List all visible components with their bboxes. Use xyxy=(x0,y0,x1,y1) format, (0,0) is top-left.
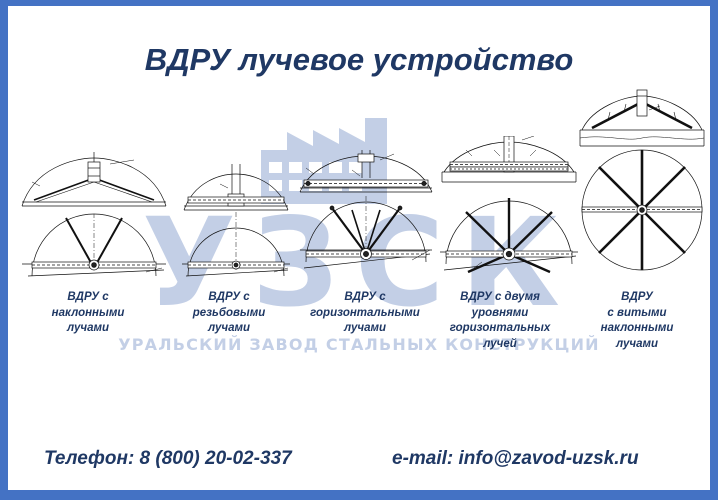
caption-line: ВДРУ xyxy=(574,290,700,306)
footer-phone[interactable]: Телефон: 8 (800) 20-02-337 xyxy=(44,446,292,472)
caption-figure-2: ВДРУ с резьбовыми лучами xyxy=(164,290,294,337)
figure-3 xyxy=(294,150,438,284)
caption-figure-1: ВДРУ с наклонными лучами xyxy=(18,290,158,337)
figure-1 xyxy=(14,152,174,284)
technical-drawing-threaded-rays xyxy=(176,164,296,284)
technical-drawing-inclined-rays xyxy=(14,152,174,284)
caption-line: лучами xyxy=(164,321,294,337)
page-title: ВДРУ лучевое устройство xyxy=(8,42,710,78)
caption-figure-3: ВДРУ с горизонтальными лучами xyxy=(294,290,436,337)
footer-email[interactable]: e-mail: info@zavod-uzsk.ru xyxy=(392,446,639,472)
caption-line: наклонными xyxy=(18,306,158,322)
footer: Телефон: 8 (800) 20-02-337 e-mail: info@… xyxy=(8,446,710,480)
technical-drawing-horizontal-rays xyxy=(294,150,438,284)
caption-line: горизонтальными xyxy=(294,306,436,322)
caption-line: лучами xyxy=(294,321,436,337)
figure-4 xyxy=(438,136,580,284)
figures-row xyxy=(8,88,710,296)
caption-figure-5: ВДРУ с витыми наклонными лучами xyxy=(574,290,700,352)
caption-line: ВДРУ с xyxy=(294,290,436,306)
caption-line: наклонными xyxy=(574,321,700,337)
technical-drawing-twisted-inclined-rays xyxy=(576,88,708,284)
technical-drawing-two-level-horizontal-rays xyxy=(438,136,580,284)
caption-line: ВДРУ с xyxy=(164,290,294,306)
captions-row: ВДРУ с наклонными лучами ВДРУ с резьбовы… xyxy=(8,290,710,368)
caption-line: ВДРУ с xyxy=(18,290,158,306)
slide-canvas: УЗСК УРАЛЬСКИЙ ЗАВОД СТАЛЬНЫХ КОНСТРУКЦИ… xyxy=(8,6,710,490)
caption-line: лучами xyxy=(574,337,700,353)
caption-line: уровнями xyxy=(432,306,568,322)
figure-2 xyxy=(176,164,296,284)
caption-line: горизонтальных xyxy=(432,321,568,337)
figure-5 xyxy=(576,88,708,284)
caption-line: ВДРУ с двумя xyxy=(432,290,568,306)
caption-line: лучами xyxy=(18,321,158,337)
caption-line: с витыми xyxy=(574,306,700,322)
caption-line: резьбовыми xyxy=(164,306,294,322)
caption-line: лучей xyxy=(432,337,568,353)
caption-figure-4: ВДРУ с двумя уровнями горизонтальных луч… xyxy=(432,290,568,352)
